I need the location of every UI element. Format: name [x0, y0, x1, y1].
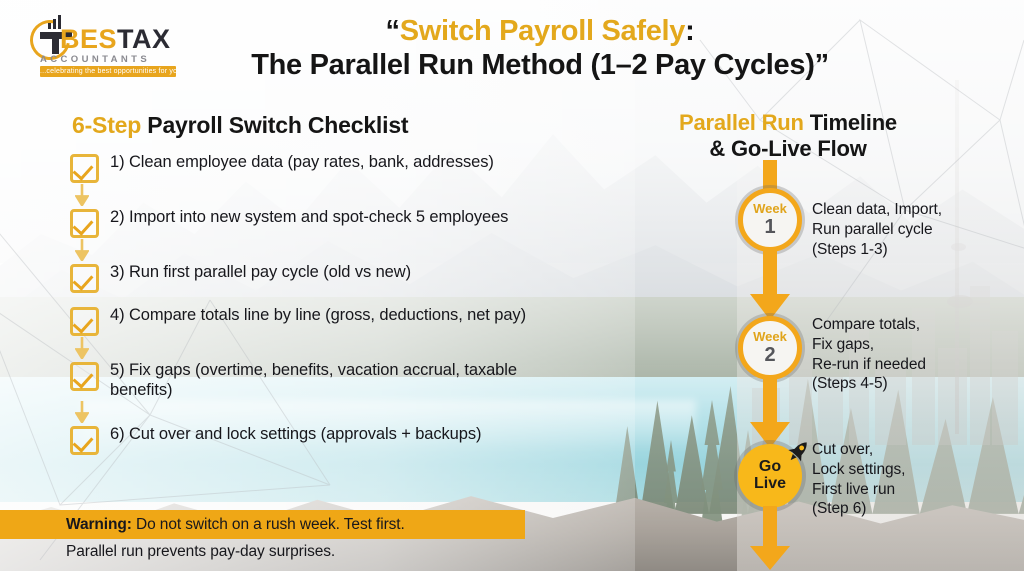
checkbox-checked-icon[interactable]	[70, 426, 99, 455]
timeline-node-badge-top: Go	[759, 459, 781, 475]
warning-subtext: Parallel run prevents pay-day surprises.	[66, 543, 335, 561]
checkbox-checked-icon[interactable]	[70, 264, 99, 293]
checklist-item-label: 6) Cut over and lock settings (approvals…	[110, 424, 610, 444]
checkbox-checked-icon[interactable]	[70, 307, 99, 336]
warning-label: Warning:	[66, 516, 132, 533]
rocket-icon	[784, 438, 812, 466]
timeline-stem	[763, 160, 777, 190]
timeline-heading: Parallel Run Timeline & Go-Live Flow	[620, 110, 956, 162]
timeline-node-description: Compare totals, Fix gaps, Re-run if need…	[812, 315, 1017, 394]
timeline-node-badge-top: Week	[753, 330, 787, 343]
logo-subtitle: ACCOUNTANTS	[40, 54, 150, 65]
checklist-item-label: 2) Import into new system and spot-check…	[110, 207, 546, 227]
warning-message: Do not switch on a rush week. Test first…	[132, 516, 405, 533]
company-logo[interactable]: BESTAX ACCOUNTANTS ...celebrating the be…	[24, 8, 184, 80]
checklist: 1) Clean employee data (pay rates, bank,…	[70, 152, 630, 455]
title-colon: :	[685, 15, 694, 47]
checklist-item-label: 5) Fix gaps (overtime, benefits, vacatio…	[110, 360, 580, 400]
warning-banner-text: Warning: Do not switch on a rush week. T…	[0, 516, 405, 534]
title-highlight: Switch Payroll Safely	[400, 15, 685, 47]
checkbox-checked-icon[interactable]	[70, 362, 99, 391]
warning-banner: Warning: Do not switch on a rush week. T…	[0, 510, 525, 539]
checkbox-checked-icon[interactable]	[70, 209, 99, 238]
title-line-2: The Parallel Run Method (1–2 Pay Cycles)…	[190, 49, 890, 82]
checklist-heading-gold: 6-Step	[72, 112, 141, 138]
logo-tax-text: TAX	[117, 24, 171, 54]
logo-bes-text: BES	[60, 24, 117, 54]
checklist-item[interactable]: 6) Cut over and lock settings (approvals…	[70, 424, 630, 455]
logo-wordmark: BESTAX	[60, 26, 171, 53]
timeline-node-week-2[interactable]: Week 2	[738, 316, 802, 380]
arrow-down-icon	[70, 337, 93, 359]
arrow-down-icon	[70, 401, 93, 423]
checklist-item[interactable]: 5) Fix gaps (overtime, benefits, vacatio…	[70, 360, 630, 400]
arrow-down-icon	[70, 239, 93, 261]
timeline-node-description: Clean data, Import, Run parallel cycle (…	[812, 200, 1017, 259]
checkbox-checked-icon[interactable]	[70, 154, 99, 183]
checklist-heading: 6-Step Payroll Switch Checklist	[72, 112, 408, 139]
timeline-node-badge-bottom: 2	[764, 344, 775, 366]
checklist-heading-dark: Payroll Switch Checklist	[147, 112, 408, 138]
logo-tagline: ...celebrating the best opportunities fo…	[40, 66, 176, 77]
logo-t-stem	[52, 32, 59, 54]
checklist-item[interactable]: 1) Clean employee data (pay rates, bank,…	[70, 152, 630, 183]
checklist-item[interactable]: 3) Run first parallel pay cycle (old vs …	[70, 262, 630, 293]
infographic-canvas: BESTAX ACCOUNTANTS ...celebrating the be…	[0, 0, 1024, 571]
page-title: “Switch Payroll Safely: The Parallel Run…	[190, 16, 890, 82]
timeline-node-badge-bottom: Live	[754, 476, 786, 493]
checklist-item[interactable]: 4) Compare totals line by line (gross, d…	[70, 305, 630, 336]
title-open-quote: “	[386, 15, 400, 47]
arrow-down-icon	[70, 184, 93, 206]
checklist-item-label: 3) Run first parallel pay cycle (old vs …	[110, 262, 562, 282]
timeline: Week 1 Clean data, Import, Run parallel …	[700, 160, 1020, 570]
timeline-heading-gold: Parallel Run	[679, 110, 804, 135]
checklist-item[interactable]: 2) Import into new system and spot-check…	[70, 207, 630, 238]
timeline-heading-line2: & Go-Live Flow	[709, 136, 866, 161]
arrow-down-icon	[747, 506, 793, 571]
timeline-node-badge-top: Week	[753, 202, 787, 215]
checklist-item-label: 4) Compare totals line by line (gross, d…	[110, 305, 580, 325]
timeline-node-description: Cut over, Lock settings, First live run …	[812, 440, 1017, 519]
title-line-1: “Switch Payroll Safely:	[190, 16, 890, 47]
checklist-item-label: 1) Clean employee data (pay rates, bank,…	[110, 152, 542, 172]
timeline-heading-dark: Timeline	[810, 110, 897, 135]
timeline-node-week-1[interactable]: Week 1	[738, 188, 802, 252]
timeline-node-badge-bottom: 1	[764, 216, 775, 238]
